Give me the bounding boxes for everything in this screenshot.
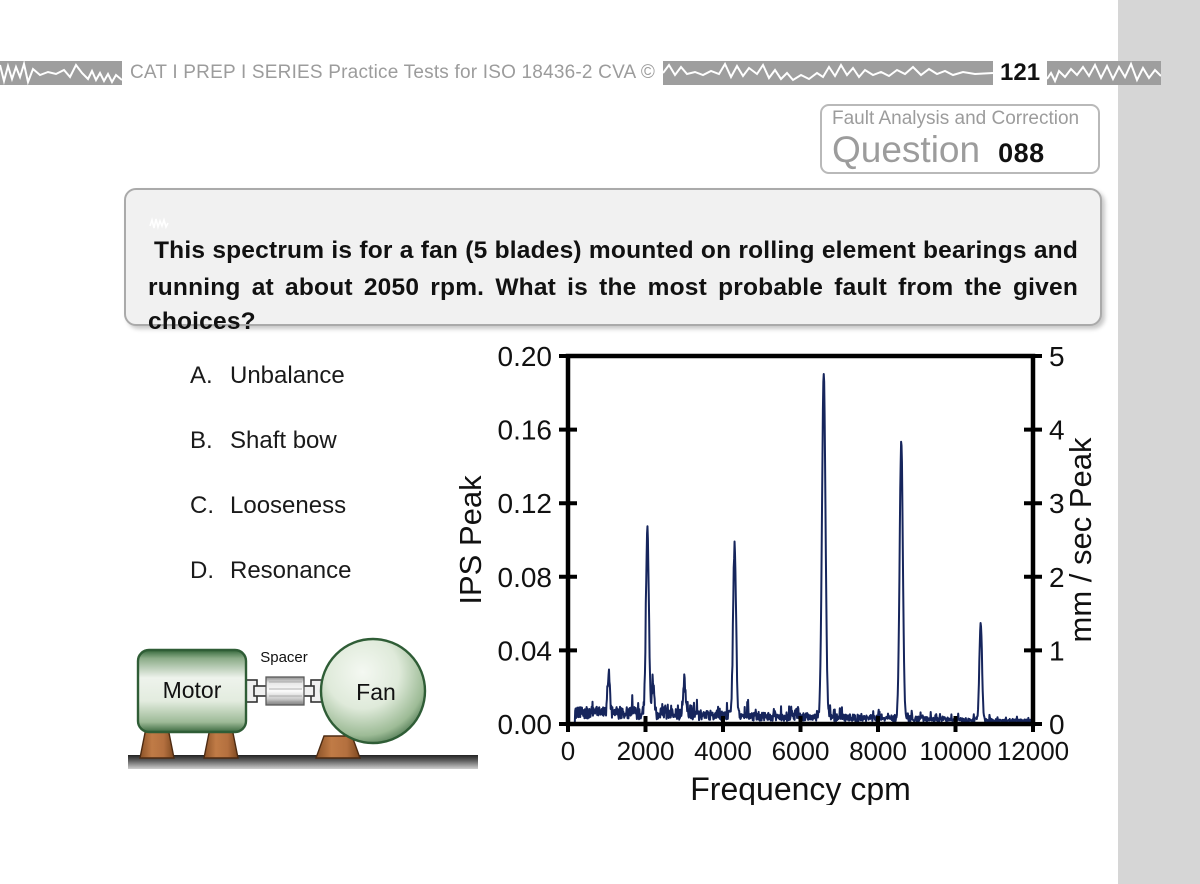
answer-choice-a[interactable]: A. Unbalance bbox=[190, 362, 460, 390]
y-tick-label-left: 0.16 bbox=[498, 415, 553, 446]
answer-choice-c[interactable]: C. Looseness bbox=[190, 492, 460, 520]
choice-label: Resonance bbox=[230, 557, 351, 585]
motor-label: Motor bbox=[163, 677, 222, 703]
choice-label: Shaft bow bbox=[230, 427, 337, 455]
question-prompt-box: This spectrum is for a fan (5 blades) mo… bbox=[124, 188, 1102, 326]
y-tick-label-left: 0.20 bbox=[498, 341, 553, 372]
right-gutter-panel bbox=[1118, 0, 1200, 884]
y-axis-label-left: IPS Peak bbox=[455, 475, 488, 605]
answer-choice-list: A. Unbalance B. Shaft bow C. Looseness D… bbox=[190, 362, 460, 622]
plot-frame bbox=[568, 356, 1033, 724]
spacer-label: Spacer bbox=[260, 649, 308, 666]
prompt-sentence: This spectrum is for a fan (5 blades) mo… bbox=[148, 237, 1078, 335]
machine-train-diagram: Motor Fan Spacer bbox=[128, 636, 478, 786]
choice-letter: C. bbox=[190, 492, 230, 520]
spectrum-trace bbox=[568, 374, 1033, 724]
page-header: CAT I PREP I SERIES Practice Tests for I… bbox=[0, 58, 1200, 88]
x-axis-label: Frequency cpm bbox=[690, 771, 911, 805]
choice-letter: B. bbox=[190, 427, 230, 455]
x-tick-label: 12000 bbox=[997, 736, 1069, 766]
vibration-spectrum-chart: 0.000.040.080.120.160.20IPS Peak012345mm… bbox=[455, 340, 1115, 805]
spacer-coupling bbox=[266, 677, 304, 705]
base-plate bbox=[128, 755, 478, 769]
waveform-decoration-left bbox=[0, 61, 122, 85]
header-page-number: 121 bbox=[993, 59, 1047, 87]
question-category: Fault Analysis and Correction bbox=[832, 108, 1088, 130]
y-axis-label-right: mm / sec Peak bbox=[1063, 437, 1098, 642]
question-id-box: Fault Analysis and Correction Question 0… bbox=[820, 104, 1100, 174]
waveform-decoration-right bbox=[1047, 61, 1161, 85]
slide-page: CAT I PREP I SERIES Practice Tests for I… bbox=[0, 0, 1200, 884]
y-tick-label-left: 0.08 bbox=[498, 562, 553, 593]
choice-letter: D. bbox=[190, 557, 230, 585]
waveform-decoration-middle bbox=[663, 61, 993, 85]
answer-choice-d[interactable]: D. Resonance bbox=[190, 557, 460, 585]
choice-label: Looseness bbox=[230, 492, 346, 520]
question-word: Question bbox=[832, 130, 980, 170]
choice-letter: A. bbox=[190, 362, 230, 390]
header-title: CAT I PREP I SERIES Practice Tests for I… bbox=[122, 62, 663, 84]
x-tick-label: 0 bbox=[561, 736, 575, 766]
x-tick-label: 8000 bbox=[849, 736, 907, 766]
x-tick-label: 10000 bbox=[919, 736, 991, 766]
y-tick-label-left: 0.12 bbox=[498, 488, 553, 519]
choice-label: Unbalance bbox=[230, 362, 345, 390]
x-tick-label: 6000 bbox=[772, 736, 830, 766]
waveform-icon bbox=[148, 214, 1078, 234]
x-tick-label: 4000 bbox=[694, 736, 752, 766]
question-number: 088 bbox=[998, 138, 1045, 169]
fan-label: Fan bbox=[356, 679, 396, 705]
answer-choice-b[interactable]: B. Shaft bow bbox=[190, 427, 460, 455]
x-tick-label: 2000 bbox=[617, 736, 675, 766]
y-tick-label-right: 5 bbox=[1049, 341, 1065, 372]
y-tick-label-left: 0.00 bbox=[498, 709, 553, 740]
y-tick-label-left: 0.04 bbox=[498, 635, 553, 666]
